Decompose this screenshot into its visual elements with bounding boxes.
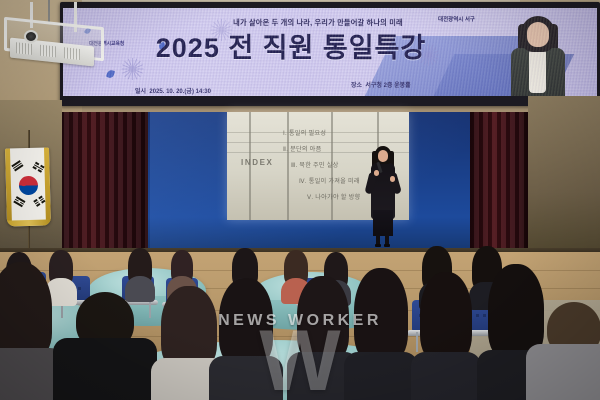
audience-member-foreground (418, 272, 474, 400)
banner-date-value: 2025. 10. 20.(금) 14:30 (149, 89, 211, 95)
trigram-gon-icon (33, 196, 45, 207)
audience-member-foreground (0, 262, 56, 400)
banner-place: 장소 서구청 2층 윤봉홀 (351, 80, 411, 89)
trigram-geon-icon (11, 160, 23, 171)
flag-fringe (7, 219, 51, 226)
stage-curtain-left (60, 112, 148, 252)
banner-place-label: 장소 (351, 83, 362, 89)
speaker-presenter (366, 146, 400, 250)
audience-member-foreground (538, 302, 600, 400)
led-banner-screen: 대전광역시교육청 대전광역시 서구 내가 살아온 두 개의 나라, 우리가 만들… (63, 8, 597, 96)
audience-member-foreground (352, 268, 410, 400)
banner-date: 일시 2025. 10. 20.(금) 14:30 (135, 86, 211, 95)
slide-index-label: INDEX (241, 158, 273, 167)
led-banner: 대전광역시교육청 대전광역시 서구 내가 살아온 두 개의 나라, 우리가 만들… (60, 2, 600, 106)
stage-curtain-right (470, 112, 530, 252)
far-right-wall (528, 96, 600, 256)
trigram-gam-icon (32, 162, 44, 173)
audience-member (126, 248, 154, 298)
photograph-scene: 대전광역시교육청 대전광역시 서구 내가 살아온 두 개의 나라, 우리가 만들… (0, 0, 600, 400)
projector-vent (40, 45, 56, 58)
trigram-ri-icon (13, 196, 25, 207)
projector-vent (16, 42, 32, 55)
projector-cable (48, 0, 50, 22)
audience-member-foreground (62, 292, 148, 400)
flag-fringe (5, 148, 12, 226)
banner-date-label: 일시 (135, 89, 146, 95)
korean-flag (5, 147, 51, 226)
banner-place-value: 서구청 2층 윤봉홀 (365, 83, 410, 89)
slide-index-item: Ⅰ. 통일의 필요성 (283, 128, 401, 137)
projector-vent (64, 47, 80, 60)
taeguk-symbol-icon (19, 176, 38, 195)
projector-lens-icon (24, 30, 38, 43)
bird-motif-icon (106, 69, 115, 79)
audience-member-foreground (216, 278, 276, 400)
ceiling-projector (4, 14, 104, 66)
banner-speaker-photo (507, 16, 569, 96)
banner-title: 2025 전 직원 통일특강 (121, 26, 461, 65)
